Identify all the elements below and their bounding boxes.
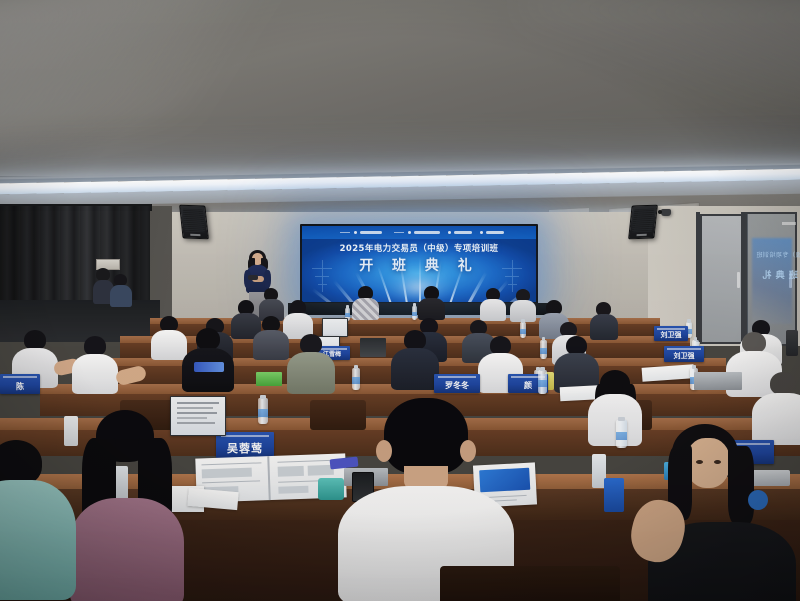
security-camera xyxy=(661,209,671,216)
placard-r4-1: 罗冬冬 xyxy=(434,374,480,393)
bottle-r2-1 xyxy=(520,322,526,338)
door-frame-left xyxy=(696,212,700,342)
bottle-r3-1 xyxy=(540,340,547,359)
placard-name: 刘卫强 xyxy=(654,332,688,339)
placard-r3-2: 刘卫强 xyxy=(664,346,704,362)
teal-cup xyxy=(318,478,344,500)
chair-foreground xyxy=(440,566,620,601)
door-frame-mid xyxy=(741,212,745,342)
tissue-box xyxy=(256,372,282,386)
laptop-r4-1[interactable] xyxy=(694,372,742,390)
placard-r2: 刘卫强 xyxy=(654,326,688,341)
eye-left xyxy=(696,460,703,464)
screen-main-title: 开 班 典 礼 xyxy=(302,255,536,275)
reflected-title: 开 班 典 礼 xyxy=(762,268,800,281)
reflected-headline: 2025年电力交易员（中级）专项培训班 xyxy=(756,250,800,259)
screen-headline: 2025年电力交易员（中级）专项培训班 xyxy=(302,242,536,254)
ear-right xyxy=(460,440,476,462)
wall-speaker-right xyxy=(628,205,658,240)
led-screen[interactable]: 2025年电力交易员（中级）专项培训班 开 班 典 礼 xyxy=(302,226,536,302)
bottle-r4-1 xyxy=(352,368,360,390)
bottle-r5-2 xyxy=(538,370,547,394)
eye-right xyxy=(714,460,721,464)
screen-top-banner xyxy=(302,226,536,239)
placard-name: 吴蓉莺 xyxy=(216,443,274,454)
ear-left xyxy=(376,440,392,462)
photo-classroom-scene: 2025年电力交易员（中级）专项培训班 开 班 典 礼 xyxy=(0,0,800,601)
hair-tie xyxy=(748,490,768,510)
placard-name: 罗冬冬 xyxy=(434,382,480,390)
placard-name: 刘卫强 xyxy=(664,353,704,360)
laptop-r3-2[interactable] xyxy=(360,338,386,357)
placard-name: 陈 xyxy=(0,383,40,391)
ceiling-light-sheen-right xyxy=(520,0,800,110)
microphone xyxy=(248,275,258,280)
face xyxy=(686,438,730,488)
phone-blue-fg[interactable] xyxy=(604,478,624,512)
bottle-r5-3 xyxy=(616,420,627,448)
bottle-r5-1 xyxy=(258,398,268,424)
wall-speaker-left xyxy=(179,205,209,240)
bottle-r1-1 xyxy=(412,306,417,320)
door-handle-1[interactable] xyxy=(737,272,740,288)
reflected-banner xyxy=(782,222,796,225)
wall-mounted-device xyxy=(786,330,798,356)
placard-r4-left: 陈 xyxy=(0,374,40,394)
laptop-r2-1[interactable] xyxy=(322,318,348,337)
bottle-r5-4 xyxy=(64,416,78,446)
chair-r5-2 xyxy=(310,400,366,430)
laptop-r5-open[interactable] xyxy=(170,396,226,436)
jersey-graphic xyxy=(194,362,224,372)
